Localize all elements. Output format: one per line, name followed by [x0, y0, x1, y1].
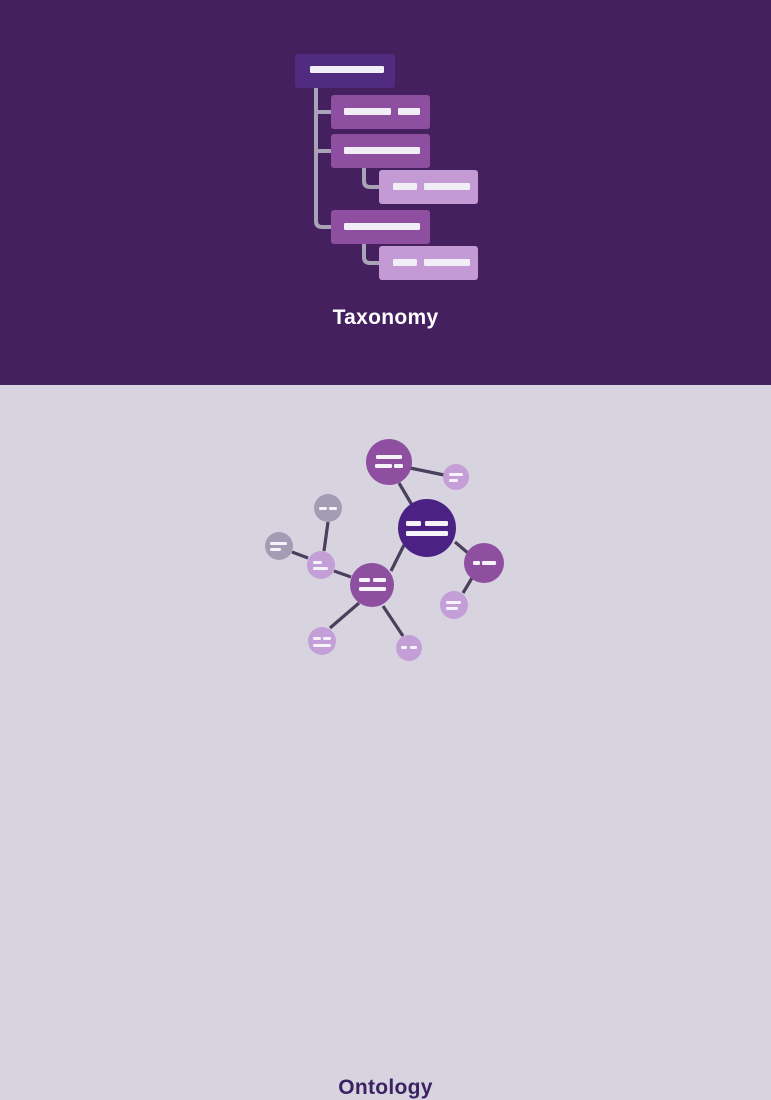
grandchild-node-2-label-1	[393, 259, 417, 266]
node-mid-left-label-2	[313, 567, 328, 570]
edge-core-to-right	[455, 542, 468, 553]
node-top	[366, 439, 412, 485]
node-hub-left-body	[350, 563, 394, 607]
illustration-canvas: Taxonomy Ontology	[0, 0, 771, 771]
grandchild-node-1-label-2	[424, 183, 470, 190]
node-bottom-left-label-3	[313, 644, 331, 647]
node-far-left-label-2	[270, 548, 281, 551]
node-top-label-2	[375, 464, 392, 468]
node-top-body	[366, 439, 412, 485]
taxonomy-box-group	[295, 54, 478, 280]
node-top-label-1	[376, 455, 402, 459]
node-right-lower-body	[440, 591, 468, 619]
child-node-3	[331, 210, 430, 244]
node-bottom-right	[396, 635, 422, 661]
node-top-label-3	[394, 464, 403, 468]
branch-child3-to-gc2	[364, 244, 379, 263]
ontology-panel: Ontology	[0, 385, 771, 771]
node-bottom-left	[308, 627, 336, 655]
node-top-right-body	[443, 464, 469, 490]
node-bottom-left-label-1	[313, 637, 321, 640]
node-right-label-1	[473, 561, 480, 565]
edge-mid-left-to-upper-grey	[324, 522, 328, 551]
edge-core-to-top	[399, 483, 412, 505]
node-mid-left-label-1	[313, 561, 322, 564]
node-far-left-body	[265, 532, 293, 560]
node-right-lower	[440, 591, 468, 619]
ontology-node-group	[265, 439, 504, 661]
ontology-caption: Ontology	[0, 1076, 771, 1100]
node-upper-grey-label-2	[329, 507, 337, 510]
edge-hub-to-bottom-right	[383, 606, 403, 636]
node-core	[398, 499, 456, 557]
grandchild-node-2-label-2	[424, 259, 470, 266]
node-top-right-label-1	[449, 473, 463, 476]
node-right-lower-label-1	[446, 601, 461, 604]
node-bottom-right-label-1	[401, 646, 407, 649]
node-top-right	[443, 464, 469, 490]
node-hub-left-label-2	[373, 578, 386, 582]
trunk-to-child2	[316, 112, 331, 151]
node-right-label-2	[482, 561, 496, 565]
grandchild-node-1-label-1	[393, 183, 417, 190]
node-bottom-right-body	[396, 635, 422, 661]
edge-hub-to-mid-left	[334, 571, 351, 577]
edge-top-to-top-right	[410, 468, 444, 475]
edge-hub-to-bottom-left	[330, 603, 359, 628]
root-node	[295, 54, 395, 88]
node-upper-grey-body	[314, 494, 342, 522]
node-core-label-2	[425, 521, 448, 526]
node-far-left	[265, 532, 293, 560]
node-mid-left	[307, 551, 335, 579]
node-hub-left-label-1	[359, 578, 370, 582]
trunk-root-to-child1	[316, 88, 331, 112]
branch-child2-to-gc1	[364, 168, 379, 187]
ontology-diagram	[0, 385, 771, 771]
node-hub-left	[350, 563, 394, 607]
child-node-2-label-1	[344, 147, 420, 154]
child-node-1-label-2	[398, 108, 420, 115]
node-core-body	[398, 499, 456, 557]
node-bottom-left-label-2	[323, 637, 331, 640]
node-far-left-label-1	[270, 542, 287, 545]
taxonomy-panel: Taxonomy	[0, 0, 771, 385]
edge-core-to-hub-left	[391, 545, 404, 571]
node-bottom-right-label-2	[410, 646, 417, 649]
child-node-1	[331, 95, 430, 129]
node-core-label-1	[406, 521, 421, 526]
taxonomy-caption: Taxonomy	[0, 306, 771, 330]
grandchild-node-2	[379, 246, 478, 280]
node-bottom-left-body	[308, 627, 336, 655]
child-node-3-label-1	[344, 223, 420, 230]
node-mid-left-body	[307, 551, 335, 579]
grandchild-node-1	[379, 170, 478, 204]
edge-mid-left-to-far-left	[292, 552, 308, 558]
root-node-label-1	[310, 66, 384, 73]
trunk-to-child3	[316, 151, 331, 227]
node-top-right-label-2	[449, 479, 458, 482]
child-node-1-label-1	[344, 108, 391, 115]
edge-right-to-right-lower	[463, 578, 472, 593]
node-upper-grey-label-1	[319, 507, 327, 510]
node-upper-grey	[314, 494, 342, 522]
node-hub-left-label-3	[359, 587, 386, 591]
node-right	[464, 543, 504, 583]
node-right-lower-label-2	[446, 607, 458, 610]
node-core-label-3	[406, 531, 448, 536]
child-node-2	[331, 134, 430, 168]
